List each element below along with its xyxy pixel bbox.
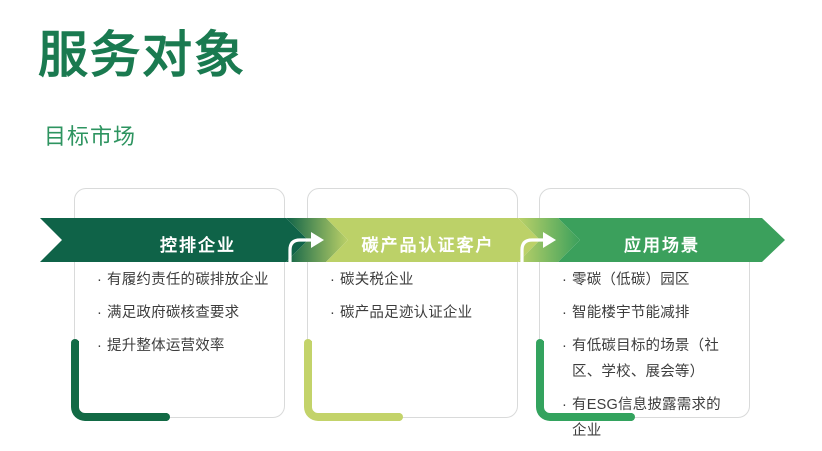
slide-canvas: 服务对象 目标市场 · 有履约责任的碳排放企业 · 满足政府碳核查要求 · 提升… xyxy=(0,0,822,451)
list-item: · 碳关税企业 xyxy=(330,267,503,293)
card-accent-corner-1 xyxy=(71,341,167,421)
page-title: 服务对象 xyxy=(38,26,246,84)
bullet-dot-icon: · xyxy=(330,300,335,326)
step-banner-1-label: 控排企业 xyxy=(108,231,288,256)
list-item: · 智能楼宇节能减排 xyxy=(562,300,735,326)
page-subtitle: 目标市场 xyxy=(44,122,136,152)
card-accent-corner-3 xyxy=(536,341,632,421)
bullet-dot-icon: · xyxy=(97,300,102,326)
step-card-2[interactable]: · 碳关税企业 · 碳产品足迹认证企业 xyxy=(307,188,518,418)
bullet-dot-icon: · xyxy=(562,300,567,326)
list-item: · 零碳（低碳）园区 xyxy=(562,267,735,293)
bullet-dot-icon: · xyxy=(562,267,567,293)
bullet-dot-icon: · xyxy=(330,267,335,293)
card-accent-corner-2 xyxy=(304,341,400,421)
list-item: · 有履约责任的碳排放企业 xyxy=(97,267,270,293)
step-banner-2-label: 碳产品认证客户 xyxy=(338,231,518,256)
bullet-dot-icon: · xyxy=(97,267,102,293)
step-banner-3-label: 应用场景 xyxy=(572,231,752,256)
list-item: · 满足政府碳核查要求 xyxy=(97,300,270,326)
list-item: · 碳产品足迹认证企业 xyxy=(330,300,503,326)
step-card-2-bullets: · 碳关税企业 · 碳产品足迹认证企业 xyxy=(308,267,517,333)
step-card-1[interactable]: · 有履约责任的碳排放企业 · 满足政府碳核查要求 · 提升整体运营效率 xyxy=(74,188,285,418)
step-card-3[interactable]: · 零碳（低碳）园区 · 智能楼宇节能减排 · 有低碳目标的场景（社区、学校、展… xyxy=(539,188,750,418)
